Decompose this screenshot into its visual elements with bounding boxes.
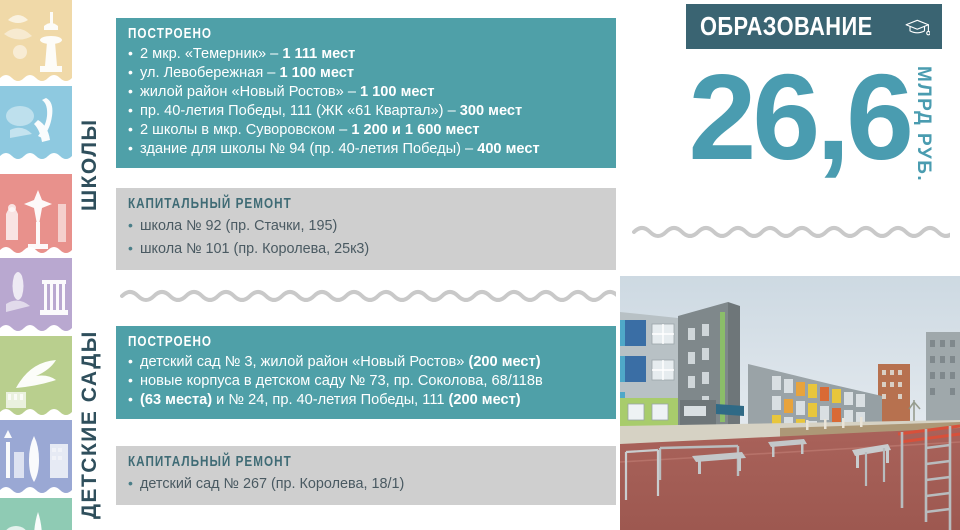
item-strong: 1 200 и 1 600 мест bbox=[351, 122, 479, 138]
total-figure-value: 26,6 bbox=[640, 56, 910, 178]
decorative-stamp-strip bbox=[0, 0, 72, 530]
panel-schools-built: ПОСТРОЕНО 2 мкр. «Темерник» – 1 111 мест… bbox=[116, 18, 616, 168]
item-strong: 400 мест bbox=[477, 141, 539, 157]
list-item: 2 школы в мкр. Суворовском – 1 200 и 1 6… bbox=[128, 121, 604, 140]
stamp-tile-4 bbox=[0, 258, 72, 336]
list-item: школа № 92 (пр. Стачки, 195) bbox=[128, 215, 604, 238]
stamp-gap-1 bbox=[0, 164, 72, 174]
stamp-tile-7 bbox=[0, 498, 72, 530]
item-text: пр. 40-летия Победы, 111 (ЖК «61 Квартал… bbox=[140, 103, 460, 119]
stamp-tile-6 bbox=[0, 420, 72, 498]
school-building-photo bbox=[620, 276, 960, 530]
item-text: школа № 92 (пр. Стачки, 195) bbox=[140, 218, 337, 234]
item-strong: 300 мест bbox=[460, 103, 522, 119]
item-text: детский сад № 267 (пр. Королева, 18/1) bbox=[140, 476, 404, 492]
list-kindergartens-built: детский сад № 3, жилой район «Новый Рост… bbox=[128, 353, 604, 410]
total-figure-unit: МЛРД РУБ. bbox=[912, 66, 934, 182]
item-strong: 1 111 мест bbox=[282, 46, 355, 62]
item-strong: 1 100 мест bbox=[360, 84, 435, 100]
header-badge: ОБРАЗОВАНИЕ bbox=[686, 4, 942, 49]
page-title: ОБРАЗОВАНИЕ bbox=[700, 11, 873, 42]
list-item: школа № 101 (пр. Королева, 25к3) bbox=[128, 238, 604, 261]
panel-kindergartens-built: ПОСТРОЕНО детский сад № 3, жилой район «… bbox=[116, 326, 616, 419]
item-strong-2: (200 мест) bbox=[449, 392, 521, 408]
panel-title-schools-built: ПОСТРОЕНО bbox=[128, 25, 499, 42]
item-text: детский сад № 3, жилой район «Новый Рост… bbox=[140, 354, 468, 370]
panel-title-kindergartens-built: ПОСТРОЕНО bbox=[128, 333, 499, 350]
item-text: новые корпуса в детском саду № 73, пр. С… bbox=[140, 373, 543, 389]
list-item: детский сад № 267 (пр. Королева, 18/1) bbox=[128, 473, 604, 496]
panel-kindergartens-repair: КАПИТАЛЬНЫЙ РЕМОНТ детский сад № 267 (пр… bbox=[116, 446, 616, 505]
graduation-cap-icon bbox=[905, 11, 930, 43]
wave-divider-left bbox=[120, 286, 616, 302]
list-item: жилой район «Новый Ростов» – 1 100 мест bbox=[128, 83, 604, 102]
list-schools-built: 2 мкр. «Темерник» – 1 111 мест ул. Левоб… bbox=[128, 45, 604, 159]
stamp-tile-3 bbox=[0, 174, 72, 258]
infographic-poster: ШКОЛЫ ДЕТСКИЕ САДЫ ПОСТРОЕНО 2 мкр. «Тем… bbox=[0, 0, 960, 530]
list-item: детский сад № 3, жилой район «Новый Рост… bbox=[128, 353, 604, 372]
item-text: здание для школы № 94 (пр. 40-летия Побе… bbox=[140, 141, 477, 157]
item-strong: 1 100 мест bbox=[279, 65, 354, 81]
item-text: школа № 101 (пр. Королева, 25к3) bbox=[140, 241, 369, 257]
list-schools-repair: школа № 92 (пр. Стачки, 195) школа № 101… bbox=[128, 215, 604, 261]
panel-schools-repair: КАПИТАЛЬНЫЙ РЕМОНТ школа № 92 (пр. Стачк… bbox=[116, 188, 616, 270]
item-strong: (63 места) bbox=[140, 392, 212, 408]
item-strong: (200 мест) bbox=[468, 354, 540, 370]
list-item-continuation: (63 места) и № 24, пр. 40-летия Победы, … bbox=[128, 391, 604, 410]
stamp-tile-5 bbox=[0, 336, 72, 420]
item-text: и № 24, пр. 40-летия Победы, 111 bbox=[212, 392, 448, 408]
item-text: жилой район «Новый Ростов» – bbox=[140, 84, 360, 100]
list-item: новые корпуса в детском саду № 73, пр. С… bbox=[128, 372, 604, 391]
item-text: 2 мкр. «Темерник» – bbox=[140, 46, 282, 62]
category-label-schools: ШКОЛЫ bbox=[78, 105, 102, 225]
list-kindergartens-repair: детский сад № 267 (пр. Королева, 18/1) bbox=[128, 473, 604, 496]
stamp-tile-2 bbox=[0, 86, 72, 164]
list-item: 2 мкр. «Темерник» – 1 111 мест bbox=[128, 45, 604, 64]
stamp-tile-1 bbox=[0, 0, 72, 86]
panel-title-kindergartens-repair: КАПИТАЛЬНЫЙ РЕМОНТ bbox=[128, 453, 499, 470]
item-text: ул. Левобережная – bbox=[140, 65, 279, 81]
panel-title-schools-repair: КАПИТАЛЬНЫЙ РЕМОНТ bbox=[128, 195, 499, 212]
list-item: пр. 40-летия Победы, 111 (ЖК «61 Квартал… bbox=[128, 102, 604, 121]
list-item: ул. Левобережная – 1 100 мест bbox=[128, 64, 604, 83]
list-item: здание для школы № 94 (пр. 40-летия Побе… bbox=[128, 140, 604, 159]
category-label-kindergartens: ДЕТСКИЕ САДЫ bbox=[78, 325, 102, 525]
item-text: 2 школы в мкр. Суворовском – bbox=[140, 122, 351, 138]
wave-divider-right bbox=[632, 222, 950, 238]
